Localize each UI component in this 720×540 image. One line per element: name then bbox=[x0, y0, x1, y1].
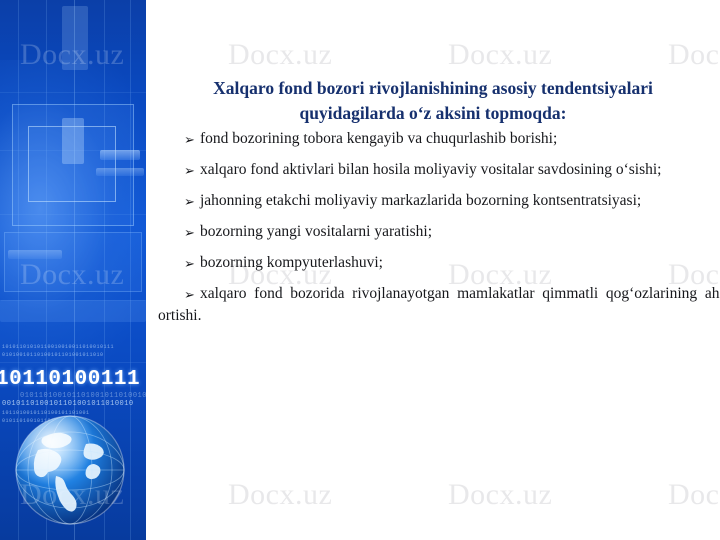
binary-code-strip: 10101101010110010010011010010111 bbox=[2, 344, 114, 350]
watermark-text: Docx.uz bbox=[228, 478, 332, 512]
globe-icon bbox=[8, 406, 136, 534]
list-item: ➢ bozorning yangi vositalarni yaratishi; bbox=[158, 221, 720, 243]
list-item: ➢ fond bozorining tobora kengayib va chu… bbox=[158, 128, 720, 150]
binary-code-strip: 0101101001011010010110100101101001011010 bbox=[20, 392, 146, 400]
bullet-marker-icon: ➢ bbox=[184, 160, 195, 182]
binary-code-highlight: 10110100111 bbox=[0, 368, 140, 391]
list-item-text: fond bozorining tobora kengayib va chuqu… bbox=[200, 130, 557, 147]
watermark-text: Doc bbox=[668, 38, 719, 72]
bullet-marker-icon: ➢ bbox=[184, 284, 195, 306]
watermark-text: Docx.uz bbox=[448, 478, 552, 512]
watermark-text: Docx.uz bbox=[228, 38, 332, 72]
list-item: ➢ jahonning etakchi moliyaviy markazlari… bbox=[158, 190, 720, 212]
band-accent bbox=[62, 118, 84, 164]
bullet-marker-icon: ➢ bbox=[184, 253, 195, 275]
watermark-text: Docx.uz bbox=[448, 38, 552, 72]
watermark-text: Doc bbox=[668, 478, 719, 512]
watermark-text: Docx.uz bbox=[228, 258, 332, 292]
binary-code-strip: 01010010110100101101001011010 bbox=[2, 352, 104, 358]
slide-title: Xalqaro fond bozori rivojlanishining aso… bbox=[168, 76, 698, 126]
list-item-text: bozorning yangi vositalarni yaratishi; bbox=[200, 223, 432, 240]
watermark-text: Docx.uz bbox=[20, 38, 124, 72]
watermark-text: Docx.uz bbox=[20, 258, 124, 292]
bullet-marker-icon: ➢ bbox=[184, 222, 195, 244]
slide-root: 10101101010110010010011010010111 0101001… bbox=[0, 0, 720, 540]
watermark-text: Docx.uz bbox=[448, 258, 552, 292]
watermark-text: Docx.uz bbox=[20, 478, 124, 512]
list-item-text: jahonning etakchi moliyaviy markazlarida… bbox=[200, 192, 641, 209]
bullet-list: ➢ fond bozorining tobora kengayib va chu… bbox=[88, 128, 720, 336]
bullet-marker-icon: ➢ bbox=[184, 191, 195, 213]
list-item-text: xalqaro fond aktivlari bilan hosila moli… bbox=[200, 161, 661, 178]
list-item: ➢ xalqaro fond aktivlari bilan hosila mo… bbox=[158, 159, 720, 181]
watermark-text: Doc bbox=[668, 258, 719, 292]
bullet-marker-icon: ➢ bbox=[184, 129, 195, 151]
